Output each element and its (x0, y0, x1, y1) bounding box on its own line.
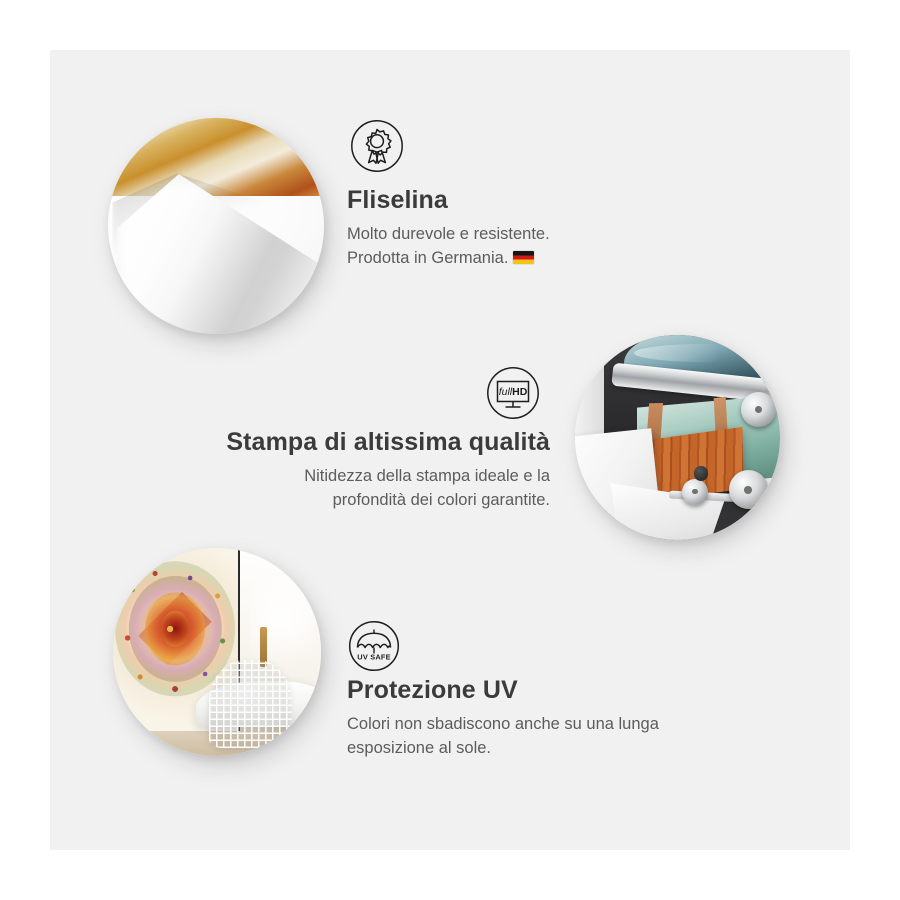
peeling-wallpaper-photo (108, 118, 324, 334)
printing-machine-photo (575, 335, 780, 540)
printer-wheel-2 (729, 470, 768, 509)
mandala-interior-photo (113, 548, 321, 756)
feature-print-quality-text: Stampa di altissima qualità Nitidezza de… (178, 428, 550, 512)
wire-chair (209, 660, 292, 747)
svg-text:fullHD: fullHD (499, 386, 528, 398)
uv-safe-label: UV SAFE (357, 653, 390, 662)
feature-fliselina-text: Fliselina Molto durevole e resistente. P… (347, 186, 550, 270)
feature-print-quality-heading: Stampa di altissima qualità (178, 428, 550, 457)
feature-uv-protection-text: Protezione UV Colori non sbadiscono anch… (347, 676, 659, 760)
feature-uv-protection-body: Colori non sbadiscono anche su una lunga… (347, 712, 659, 761)
feature-uv-protection-heading: Protezione UV (347, 676, 659, 705)
body-line-1: Colori non sbadiscono anche su una lunga (347, 712, 659, 736)
printer-wheel-1 (741, 392, 776, 427)
feature-fliselina-heading: Fliselina (347, 186, 550, 215)
award-rosette-icon (350, 119, 404, 173)
body-line-1: Molto durevole e resistente. (347, 222, 550, 246)
german-flag-icon (513, 251, 534, 264)
body-line-1: Nitidezza della stampa ideale e la (178, 464, 550, 488)
printer-scene (575, 335, 780, 540)
uv-safe-umbrella-icon: UV SAFE (348, 620, 400, 672)
interior-scene (113, 548, 321, 756)
fullhd-monitor-icon: fullHD (486, 366, 540, 420)
body-line-2: profondità dei colori garantite. (178, 488, 550, 512)
printer-wheel-3 (682, 479, 709, 506)
feature-fliselina-body: Molto durevole e resistente. Prodotta in… (347, 222, 550, 271)
body-line-2: esposizione al sole. (347, 736, 659, 760)
body-line-2: Prodotta in Germania. (347, 246, 550, 270)
promo-infographic-page: Fliselina Molto durevole e resistente. P… (0, 0, 900, 900)
feature-print-quality-body: Nitidezza della stampa ideale e la profo… (178, 464, 550, 513)
printer-knob (694, 466, 708, 480)
